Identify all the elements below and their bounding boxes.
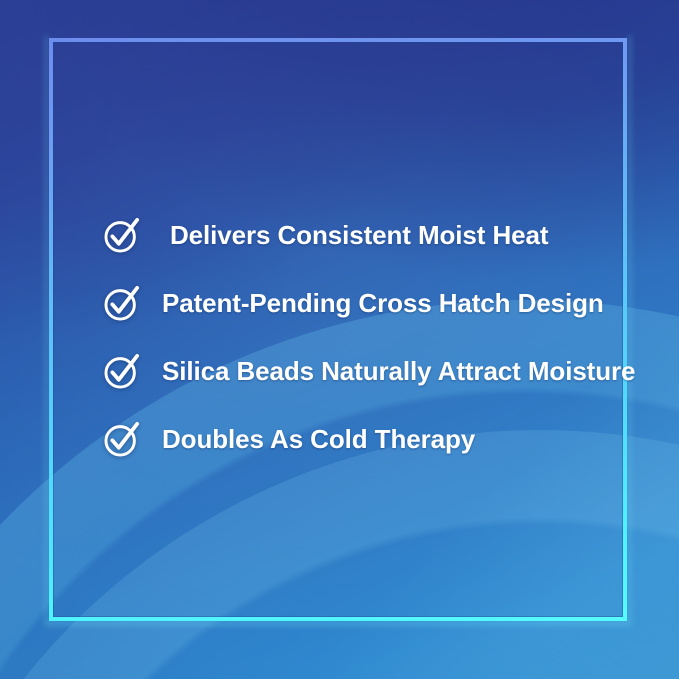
list-item: Patent-Pending Cross Hatch Design [100, 280, 620, 326]
list-item: Delivers Consistent Moist Heat [100, 212, 620, 258]
check-circle-icon [100, 281, 144, 325]
list-item-label: Delivers Consistent Moist Heat [170, 220, 548, 251]
list-item: Doubles As Cold Therapy [100, 416, 620, 462]
check-circle-icon [100, 417, 144, 461]
check-circle-icon [100, 349, 144, 393]
feature-graphic: Delivers Consistent Moist Heat Patent-Pe… [0, 0, 679, 679]
check-circle-icon [100, 213, 144, 257]
list-item-label: Silica Beads Naturally Attract Moisture [162, 356, 635, 387]
feature-list: Delivers Consistent Moist Heat Patent-Pe… [100, 212, 620, 484]
list-item-label: Patent-Pending Cross Hatch Design [162, 288, 604, 319]
list-item-label: Doubles As Cold Therapy [162, 424, 475, 455]
list-item: Silica Beads Naturally Attract Moisture [100, 348, 620, 394]
